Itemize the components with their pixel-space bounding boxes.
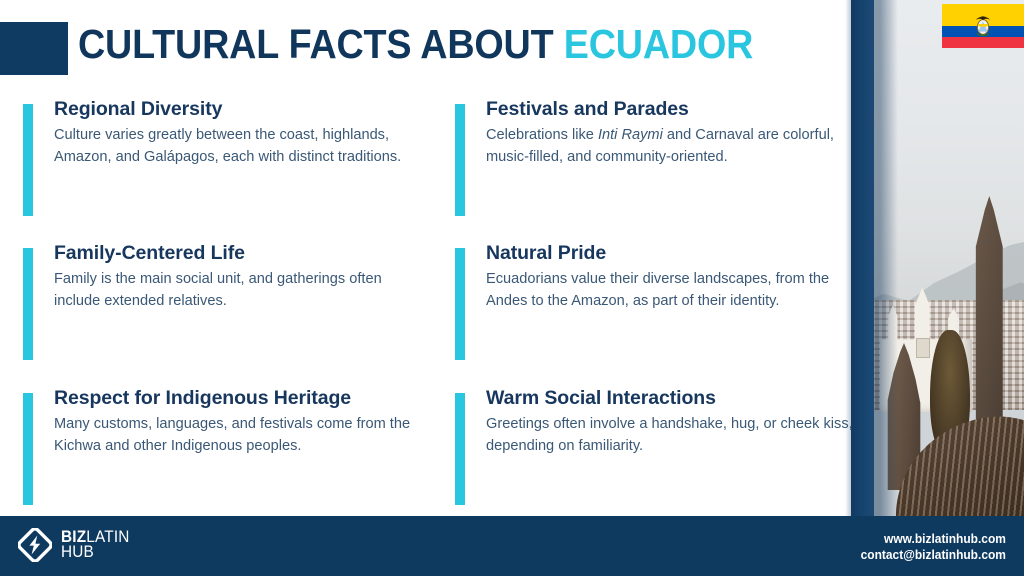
brand-line-2: HUB [61,545,130,560]
fact-card: Festivals and Parades Celebrations like … [455,98,855,228]
fact-body-pre: Celebrations like [486,127,598,143]
slide-canvas: CULTURAL FACTS ABOUT ECUADOR Regional Di… [0,0,1024,576]
fact-title: Respect for Indigenous Heritage [54,387,351,410]
fact-title: Regional Diversity [54,98,222,121]
accent-bar [23,393,33,505]
facts-grid: Regional Diversity Culture varies greatl… [0,92,845,512]
page-title-highlight: ECUADOR [564,21,753,67]
fact-card: Regional Diversity Culture varies greatl… [23,98,423,228]
accent-bar [455,393,465,505]
brand-wordmark: BIZLATIN HUB [61,530,130,560]
page-title: CULTURAL FACTS ABOUT ECUADOR [78,21,753,68]
fact-card: Family-Centered Life Family is the main … [23,242,423,372]
fact-card: Warm Social Interactions Greetings often… [455,387,855,517]
fact-body-emphasis: Inti Raymi [598,127,663,143]
quito-photo [872,0,1024,516]
page-title-main: CULTURAL FACTS ABOUT [78,21,564,67]
fact-body: Celebrations like Inti Raymi and Carnava… [486,125,864,168]
diamond-bolt-icon [18,528,52,562]
fact-body: Family is the main social unit, and gath… [54,269,424,312]
fact-title: Natural Pride [486,242,606,265]
fact-title: Family-Centered Life [54,242,245,265]
fact-card: Natural Pride Ecuadorians value their di… [455,242,855,372]
brand-logo[interactable]: BIZLATIN HUB [18,528,135,562]
fact-body: Ecuadorians value their diverse landscap… [486,269,864,312]
fact-card: Respect for Indigenous Heritage Many cus… [23,387,423,517]
footer-contact: www.bizlatinhub.com contact@bizlatinhub.… [861,532,1006,563]
accent-bar [23,248,33,360]
photo-church-window [916,338,930,358]
coat-of-arms-icon [974,13,992,39]
accent-bar [455,104,465,216]
accent-bar [23,104,33,216]
fact-body: Culture varies greatly between the coast… [54,125,424,168]
fact-body: Many customs, languages, and festivals c… [54,414,424,457]
website-link[interactable]: www.bizlatinhub.com [861,532,1006,548]
footer-bar: BIZLATIN HUB www.bizlatinhub.com contact… [0,516,1024,576]
fact-body: Greetings often involve a handshake, hug… [486,414,864,457]
accent-bar [455,248,465,360]
fact-title: Warm Social Interactions [486,387,716,410]
ecuador-flag-icon [942,4,1024,48]
fact-title: Festivals and Parades [486,98,689,121]
email-link[interactable]: contact@bizlatinhub.com [861,548,1006,564]
navy-square [0,22,68,75]
